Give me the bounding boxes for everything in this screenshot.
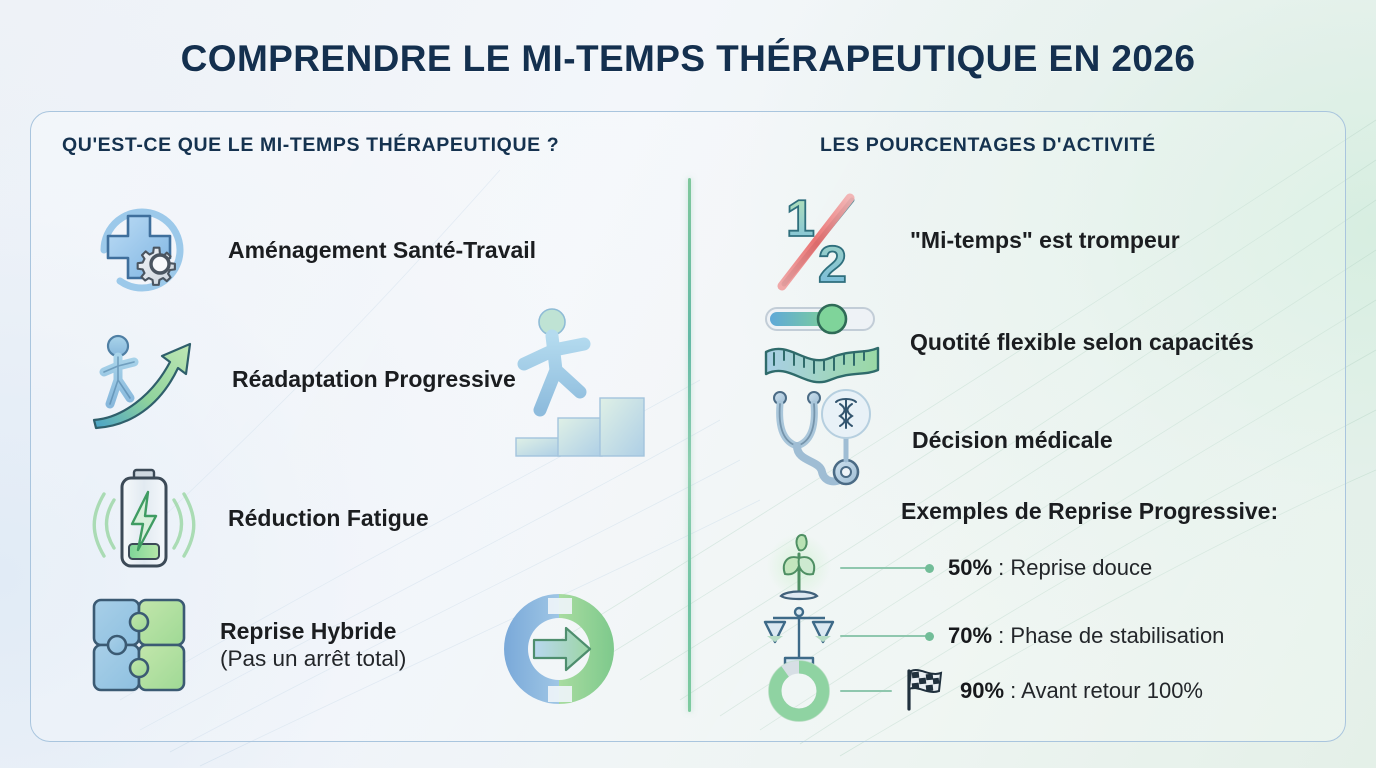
connector-line [840,564,934,573]
checkered-flag-icon [900,665,946,718]
puzzle-pieces-icon [86,592,192,698]
one-half-struck-icon: 1 2 [772,188,884,292]
example-percent: 50% [948,555,992,580]
list-item-title: Reprise Hybride [220,618,396,644]
cycle-arrow-icon [498,588,620,715]
list-item-label: "Mi-temps" est trompeur [910,226,1180,254]
battery-bolt-icon [92,462,200,574]
examples-heading: Exemples de Reprise Progressive: [901,498,1278,525]
connector-line [840,632,934,641]
list-item: Quotité flexible selon capacités [760,296,1254,388]
left-column-heading: QU'EST-CE QUE LE MI-TEMPS THÉRAPEUTIQUE … [62,134,559,157]
list-item: Décision médicale [758,388,1113,492]
svg-text:2: 2 [818,236,847,292]
column-divider [688,178,691,712]
svg-text:1: 1 [786,190,815,248]
list-item: 1 2 "Mi-temps" est trompeur [772,188,1180,292]
list-item-label: Réadaptation Progressive [232,365,516,393]
example-percent: 70% [948,623,992,648]
list-item-label: Quotité flexible selon capacités [910,328,1254,356]
list-item: Reprise Hybride (Pas un arrêt total) [86,592,406,698]
example-text: 90% : Avant retour 100% [960,678,1203,704]
sprout-icon [762,528,836,608]
list-item-label: Reprise Hybride (Pas un arrêt total) [220,617,406,672]
list-item-label: Réduction Fatigue [228,504,429,532]
list-item: Réduction Fatigue [92,462,429,574]
stethoscope-caduceus-icon [758,388,886,492]
example-percent: 90% [960,678,1004,703]
list-item: Aménagement Santé-Travail [84,192,536,308]
medical-cross-gear-icon [84,192,200,308]
person-climbing-stairs-icon [480,300,660,465]
donut-chart-icon [762,658,836,724]
example-text: 70% : Phase de stabilisation [948,623,1224,649]
list-item: Réadaptation Progressive [84,320,516,438]
list-item: 90% : Avant retour 100% [762,658,1203,724]
list-item: 50% : Reprise douce [762,528,1152,608]
person-rising-arrow-icon [84,320,204,438]
page-title: COMPRENDRE LE MI-TEMPS THÉRAPEUTIQUE EN … [0,38,1376,80]
example-text: 50% : Reprise douce [948,555,1152,581]
connector-line [840,690,892,692]
slider-measuring-tape-icon [760,296,884,388]
list-item-label: Aménagement Santé-Travail [228,236,536,264]
right-column-heading: LES POURCENTAGES D'ACTIVITÉ [820,134,1156,157]
list-item-label: Décision médicale [912,426,1113,454]
list-item-subtitle: (Pas un arrêt total) [220,645,406,672]
